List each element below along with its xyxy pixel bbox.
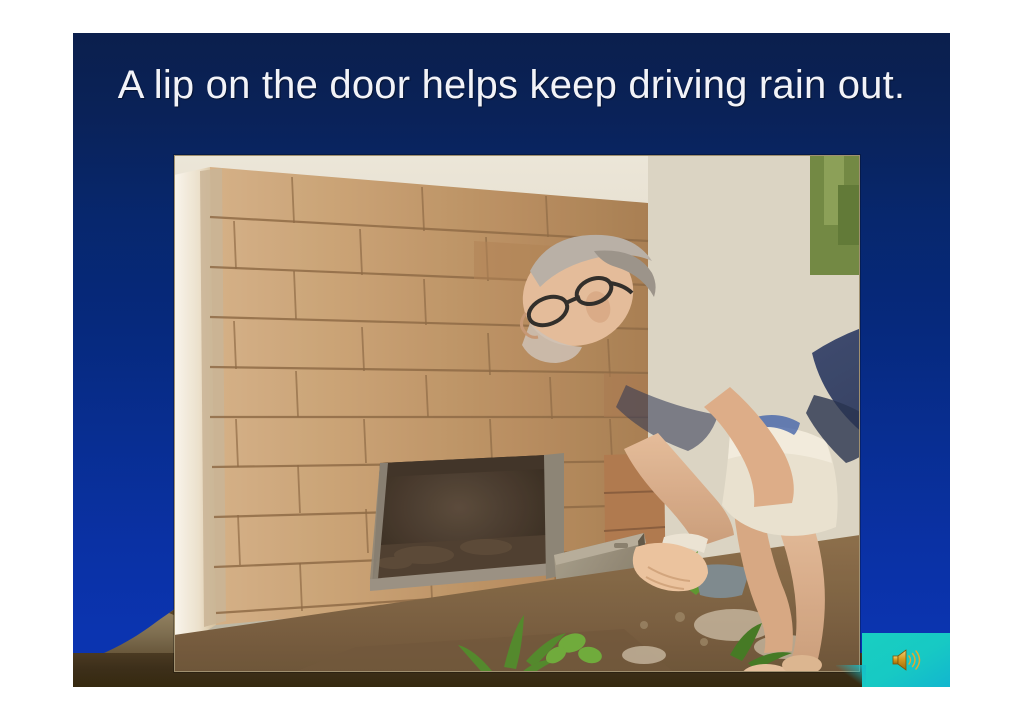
slide-photo [174, 155, 860, 672]
slide-title: A lip on the door helps keep driving rai… [103, 59, 920, 111]
sound-accent-block[interactable] [862, 633, 950, 687]
speaker-sound-icon[interactable] [891, 648, 921, 672]
slide-page: A lip on the door helps keep driving rai… [0, 0, 1024, 724]
presentation-slide: A lip on the door helps keep driving rai… [73, 33, 950, 687]
photo-illustration [174, 155, 860, 672]
